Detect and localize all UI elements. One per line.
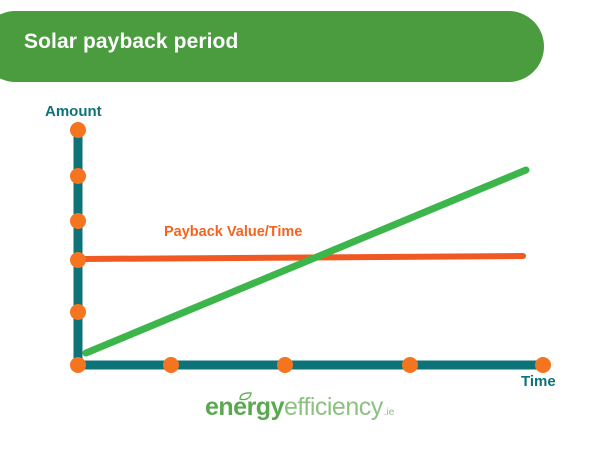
logo-tld-text: .ie [384, 407, 395, 418]
x-axis-marker [402, 357, 418, 373]
y-axis-marker [70, 213, 86, 229]
y-axis-marker [70, 122, 86, 138]
energyefficiency-logo: energy efficiency .ie [205, 393, 394, 423]
y-axis-label: Amount [45, 103, 102, 120]
x-axis-marker-origin [70, 357, 86, 373]
logo-efficiency-text: efficiency [284, 393, 383, 422]
y-axis-marker [70, 168, 86, 184]
x-axis-label: Time [521, 373, 556, 390]
chart-canvas: Solar payback period Amount [0, 0, 600, 450]
x-axis-marker [535, 357, 551, 373]
x-axis-marker [163, 357, 179, 373]
payback-chart: Amount Time Payback Value/Time [0, 0, 600, 450]
x-axis-marker [277, 357, 293, 373]
leaf-icon [239, 392, 252, 401]
payback-value-line [82, 256, 523, 259]
payback-series-label: Payback Value/Time [164, 224, 302, 240]
y-axis-marker [70, 252, 86, 268]
y-axis-marker [70, 304, 86, 320]
